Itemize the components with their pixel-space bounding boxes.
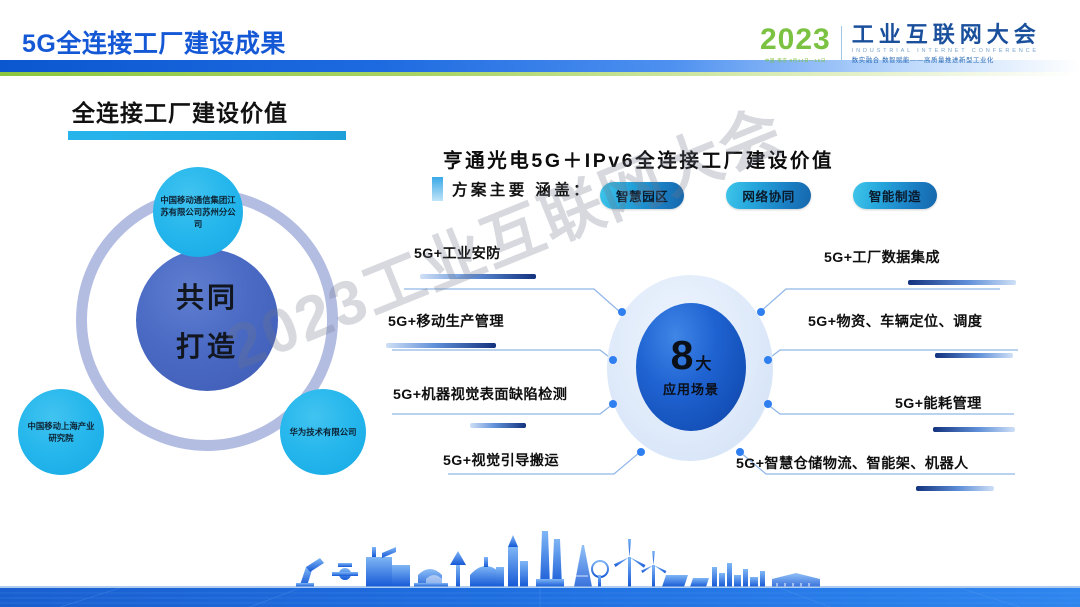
right-section-title: 亨通光电5G＋IPv6全连接工厂建设价值 xyxy=(443,144,834,173)
pill-row: 智慧园区 网络协同 智能制造 xyxy=(600,182,937,209)
footer-skyline xyxy=(0,517,1080,607)
pill-smart-park[interactable]: 智慧园区 xyxy=(600,182,684,209)
hub-dot-5 xyxy=(757,308,765,316)
partner-ring-diagram: 共同 打造 中国移动通信集团江苏有限公司苏州分公司 中国移动上海产业研究院 华为… xyxy=(48,175,368,495)
page-title: 5G全连接工厂建设成果 xyxy=(22,24,286,60)
logo-year-block: 2023 中国·南京 8月14日—16日 xyxy=(760,25,831,64)
slide-root: 5G全连接工厂建设成果 2023 中国·南京 8月14日—16日 工业互联网大会… xyxy=(0,0,1080,607)
ring-center-line1: 共同 xyxy=(176,276,238,316)
app-label-left-2: 5G+移动生产管理 xyxy=(388,313,504,331)
app-bar-right-3 xyxy=(933,427,1015,432)
left-section-heading: 全连接工厂建设价值 xyxy=(72,94,288,128)
hub-dot-2 xyxy=(609,356,617,364)
app-label-right-1: 5G+工厂数据集成 xyxy=(824,249,940,267)
hub-dot-3 xyxy=(609,400,617,408)
app-bar-right-1 xyxy=(908,280,1016,285)
header-divider-green xyxy=(0,72,1080,76)
partner-node-jiangsu-mobile: 中国移动通信集团江苏有限公司苏州分公司 xyxy=(153,167,243,257)
hub-dot-6 xyxy=(764,356,772,364)
hub-dot-7 xyxy=(764,400,772,408)
hub-dot-1 xyxy=(618,308,626,316)
app-bar-left-2 xyxy=(386,343,496,348)
logo-name-block: 工业互联网大会 INDUSTRIAL INTERNET CONFERENCE 数… xyxy=(852,24,1041,64)
logo-name-chinese: 工业互联网大会 xyxy=(852,24,1041,46)
skyline-shapes xyxy=(296,531,820,587)
hub-dot-4 xyxy=(637,448,645,456)
app-bar-left-3 xyxy=(470,423,526,428)
cover-label: 方案主要 涵盖： xyxy=(452,180,592,202)
app-bar-left-1 xyxy=(420,274,536,279)
app-label-right-4: 5G+智慧仓储物流、智能架、机器人 xyxy=(736,455,969,473)
ring-center-line2: 打造 xyxy=(176,325,238,365)
logo-divider xyxy=(841,26,842,62)
app-label-right-2: 5G+物资、车辆定位、调度 xyxy=(808,313,982,331)
logo-slogan: 数实融合 数智赋能——高质量推进新型工业化 xyxy=(852,58,1041,64)
app-bar-right-2 xyxy=(935,353,1013,358)
app-label-left-4: 5G+视觉引导搬运 xyxy=(443,452,559,470)
logo-name-english: INDUSTRIAL INTERNET CONFERENCE xyxy=(852,49,1041,55)
cover-marker-icon xyxy=(432,177,443,201)
hub-inner-circle: 8 大 应用场景 xyxy=(636,303,746,431)
hub-number-group: 8 大 xyxy=(671,336,712,375)
app-label-left-1: 5G+工业安防 xyxy=(414,245,501,263)
partner-node-huawei: 华为技术有限公司 xyxy=(280,389,366,475)
logo-year: 2023 xyxy=(760,25,831,55)
logo-year-subtitle: 中国·南京 8月14日—16日 xyxy=(760,58,831,64)
app-label-right-3: 5G+能耗管理 xyxy=(895,395,982,413)
ring-center-circle: 共同 打造 xyxy=(136,249,278,391)
pill-smart-manufacturing[interactable]: 智能制造 xyxy=(853,182,937,209)
hub-unit: 大 xyxy=(695,357,711,372)
left-section-underline xyxy=(68,131,346,140)
hub-subtitle: 应用场景 xyxy=(663,379,719,398)
partner-node-shanghai-institute: 中国移动上海产业研究院 xyxy=(18,389,104,475)
conference-logo: 2023 中国·南京 8月14日—16日 工业互联网大会 INDUSTRIAL … xyxy=(760,24,1041,64)
app-bar-right-4 xyxy=(916,486,994,491)
app-label-left-3: 5G+机器视觉表面缺陷检测 xyxy=(393,386,593,404)
hub-number: 8 xyxy=(671,336,694,375)
pill-network-collaboration[interactable]: 网络协同 xyxy=(726,182,810,209)
